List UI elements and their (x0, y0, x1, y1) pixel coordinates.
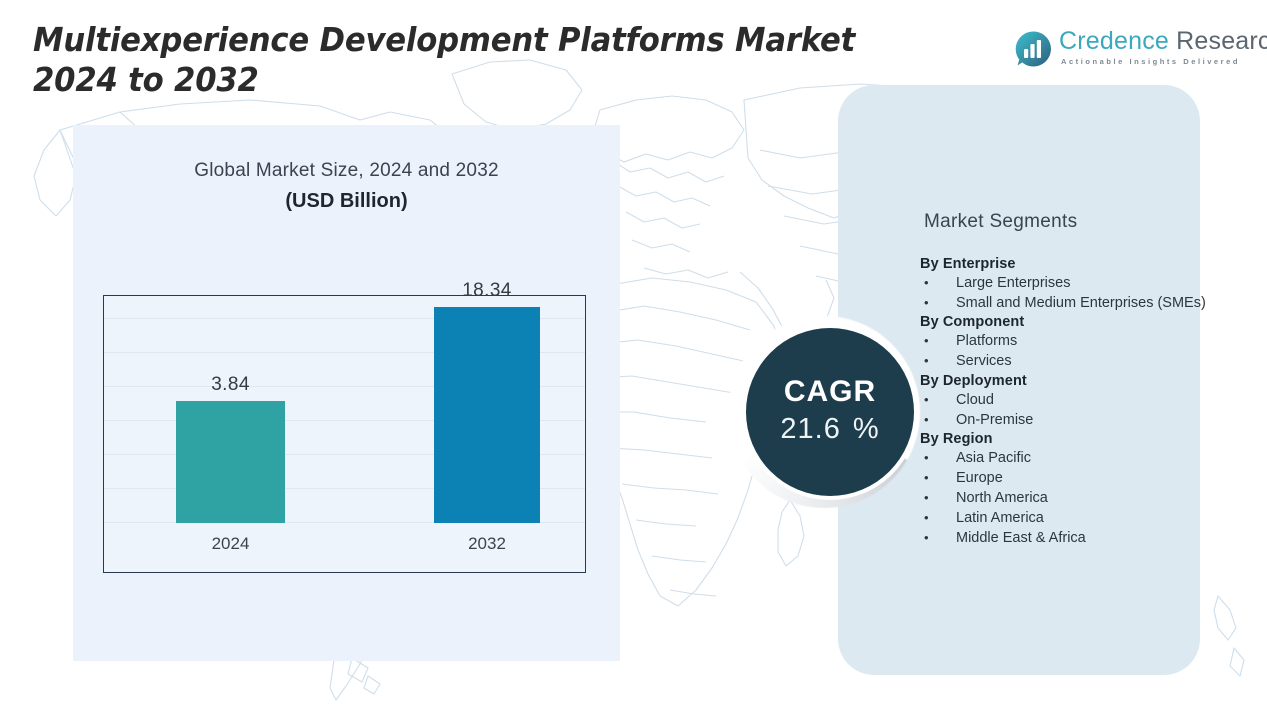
segment-item-label: On-Premise (956, 412, 1033, 428)
cagr-value-row: 21.6% (780, 411, 879, 447)
cagr-circle: CAGR 21.6% (746, 328, 914, 496)
bar-value-2032: 18.34 (422, 280, 552, 302)
bullet-icon: • (924, 274, 929, 291)
segment-item-label: Small and Medium Enterprises (SMEs) (956, 295, 1206, 311)
segment-group-title: By Component (920, 314, 1210, 330)
bullet-icon: • (924, 529, 929, 546)
segment-item: •Services (920, 352, 1210, 371)
bar-chart: 3.84 18.34 2024 2032 (103, 295, 586, 573)
cagr-unit: % (853, 413, 880, 445)
segment-group-title: By Region (920, 431, 1210, 447)
bullet-icon: • (924, 391, 929, 408)
segment-item-label: Services (956, 353, 1012, 369)
brand-name-secondary: Research (1169, 27, 1267, 55)
bullet-icon: • (924, 294, 929, 311)
segment-item: •Large Enterprises (920, 274, 1210, 293)
bullet-icon: • (924, 332, 929, 349)
chart-title: Global Market Size, 2024 and 2032 (73, 160, 620, 182)
segment-item: •North America (920, 489, 1210, 508)
segment-group: By Component•Platforms•Services (920, 314, 1210, 371)
cagr-label: CAGR (784, 377, 876, 407)
segment-item-label: Middle East & Africa (956, 530, 1086, 546)
segment-item-label: Large Enterprises (956, 275, 1070, 291)
segment-item-label: North America (956, 490, 1048, 506)
segment-item: •Latin America (920, 509, 1210, 528)
segment-item-label: Platforms (956, 333, 1017, 349)
bullet-icon: • (924, 449, 929, 466)
segments-list: By Enterprise•Large Enterprises•Small an… (920, 256, 1210, 549)
segment-item: •Middle East & Africa (920, 529, 1210, 548)
segment-item-label: Asia Pacific (956, 450, 1031, 466)
chart-subtitle: (USD Billion) (73, 190, 620, 213)
segment-item-label: Europe (956, 470, 1003, 486)
category-label-2024: 2024 (164, 534, 297, 554)
segment-item: •On-Premise (920, 411, 1210, 430)
segment-item: •Small and Medium Enterprises (SMEs) (920, 294, 1210, 313)
segment-item-label: Cloud (956, 392, 994, 408)
brand-name-primary: Credence (1059, 27, 1169, 55)
brand-logo: Credence Research Actionable Insights De… (1013, 27, 1253, 75)
bullet-icon: • (924, 509, 929, 526)
segment-item: •Asia Pacific (920, 449, 1210, 468)
brand-tagline: Actionable Insights Delivered (1061, 57, 1240, 66)
page-title: Multiexperience Development Platforms Ma… (33, 20, 926, 101)
cagr-badge: CAGR 21.6% (728, 316, 920, 508)
cagr-value: 21.6 (780, 413, 840, 445)
bar-2024 (176, 401, 285, 523)
infographic-canvas: Multiexperience Development Platforms Ma… (0, 0, 1267, 713)
segment-item: •Cloud (920, 391, 1210, 410)
segment-item-label: Latin America (956, 510, 1044, 526)
segment-group-title: By Deployment (920, 373, 1210, 389)
bullet-icon: • (924, 352, 929, 369)
bullet-icon: • (924, 489, 929, 506)
bullet-icon: • (924, 411, 929, 428)
segment-group: By Region•Asia Pacific•Europe•North Amer… (920, 431, 1210, 549)
segment-group: By Enterprise•Large Enterprises•Small an… (920, 256, 1210, 313)
segment-group-title: By Enterprise (920, 256, 1210, 272)
brand-name: Credence Research (1059, 27, 1267, 56)
category-label-2032: 2032 (422, 534, 552, 554)
segment-item: •Europe (920, 469, 1210, 488)
bar-2032 (434, 307, 540, 523)
bar-chart-bubble-icon (1013, 29, 1053, 69)
segment-item: •Platforms (920, 332, 1210, 351)
bullet-icon: • (924, 469, 929, 486)
segments-heading: Market Segments (924, 211, 1077, 233)
segment-group: By Deployment•Cloud•On-Premise (920, 373, 1210, 430)
bar-value-2024: 3.84 (164, 374, 297, 396)
